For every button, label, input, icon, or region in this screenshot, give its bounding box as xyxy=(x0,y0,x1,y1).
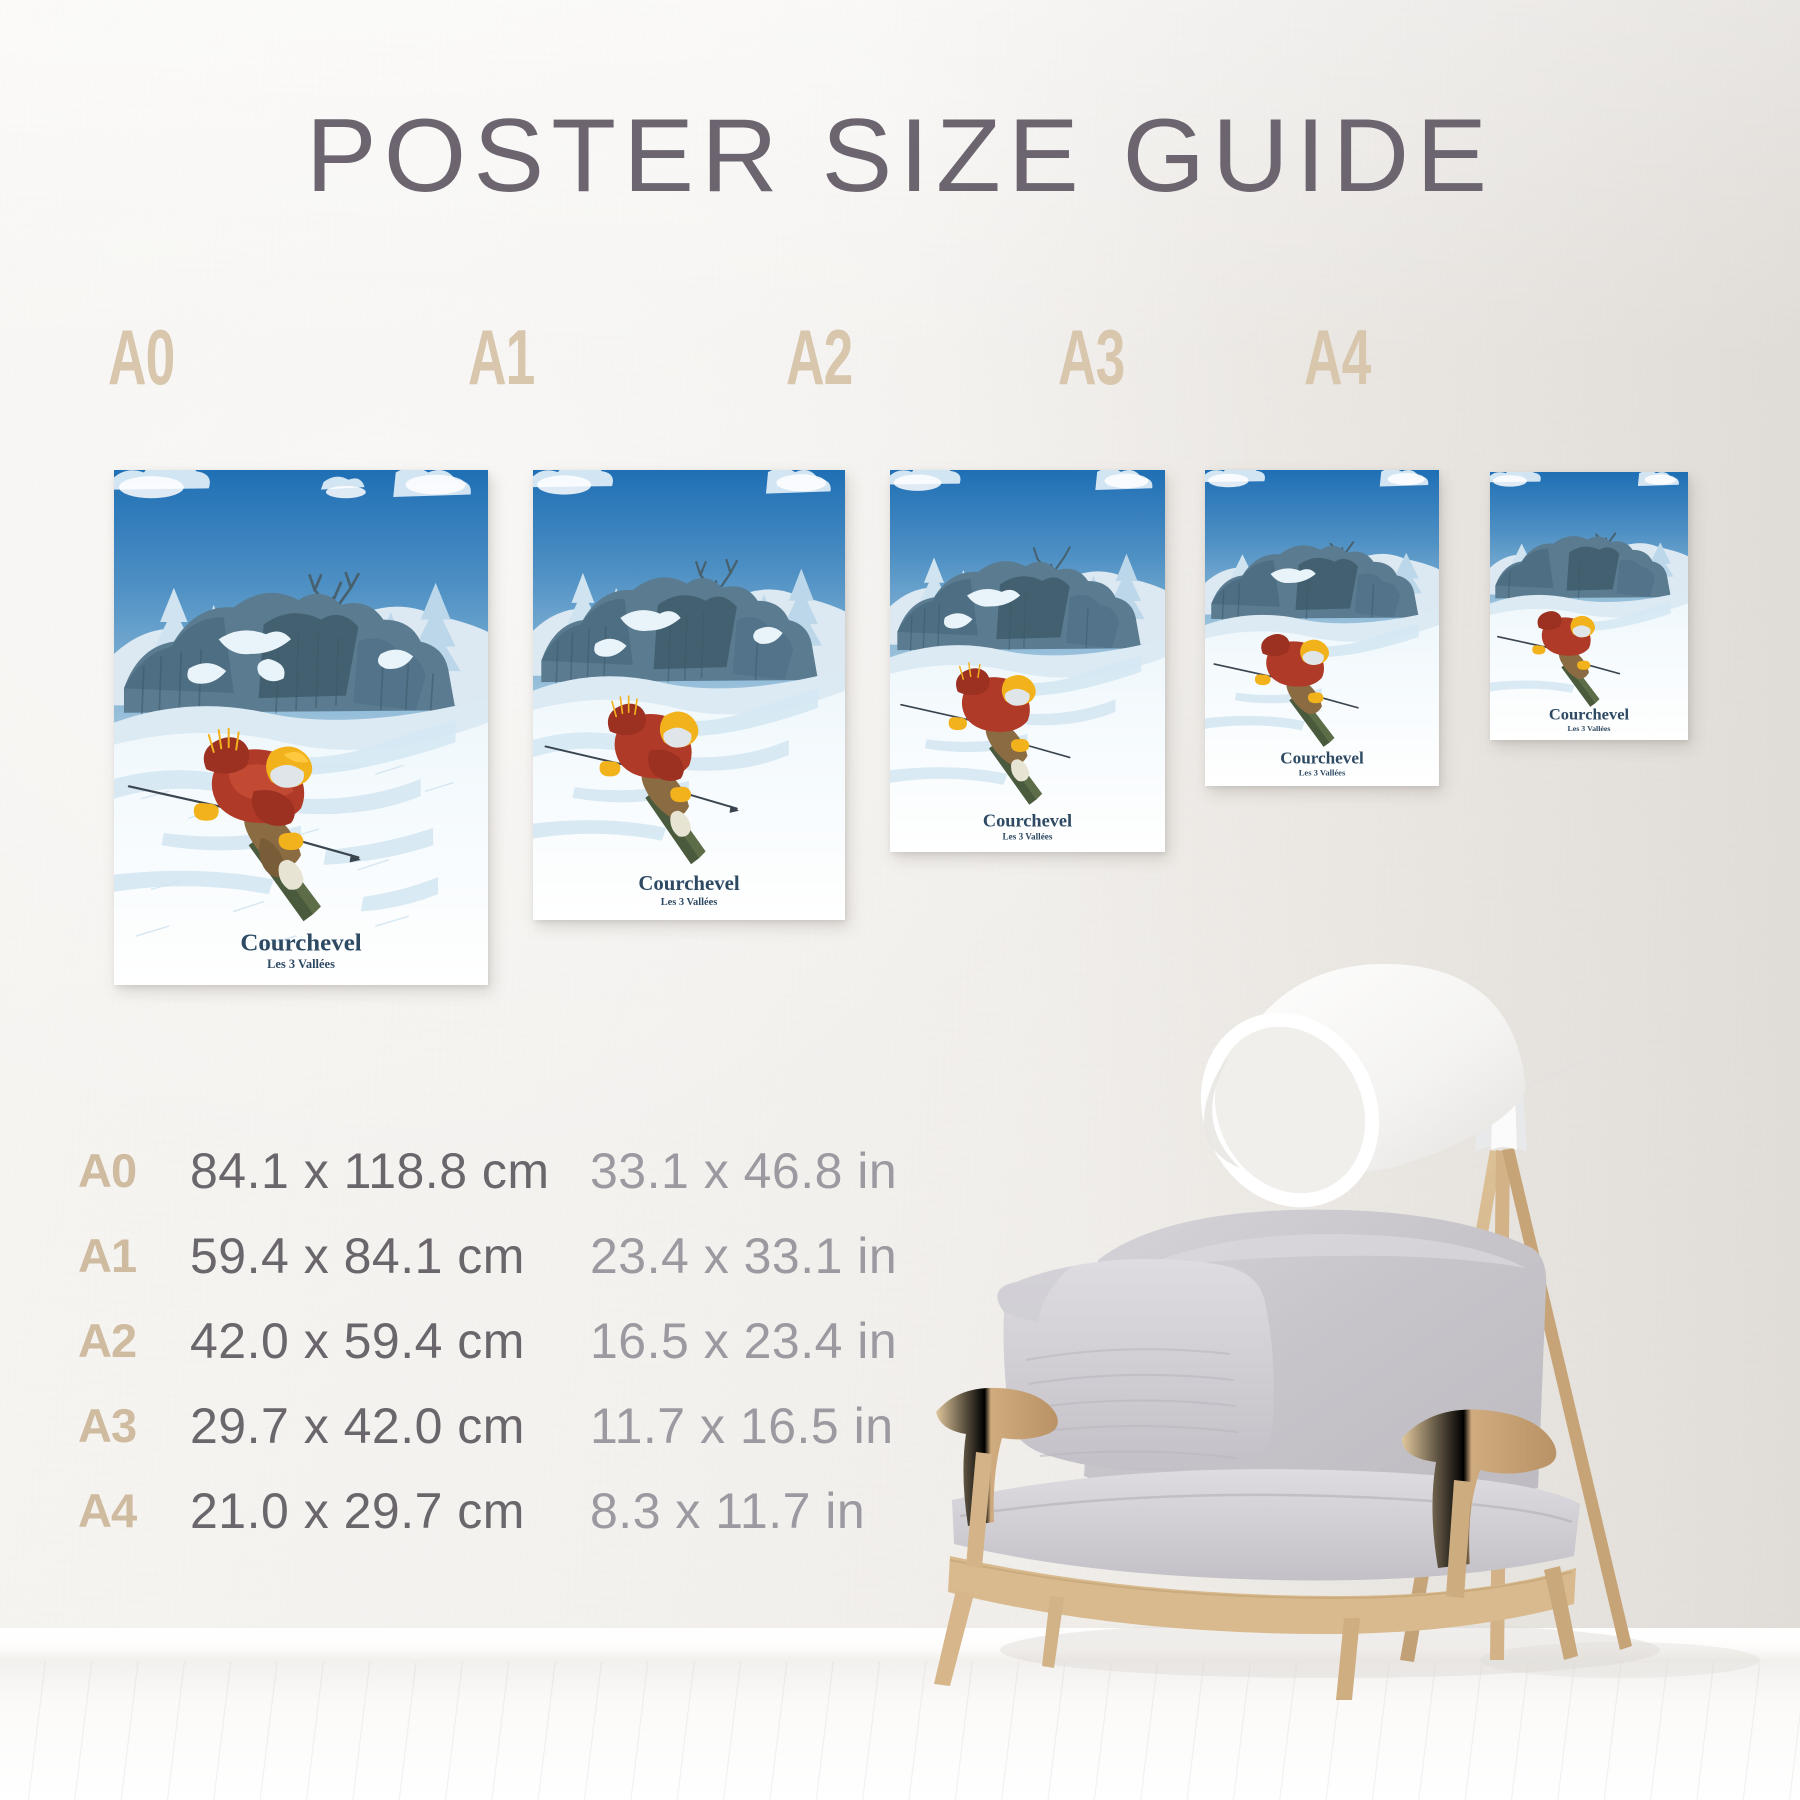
room-scene: POSTER SIZE GUIDE A0 A1 A2 A3 A4 xyxy=(0,0,1800,1800)
table-row: A4 21.0 x 29.7 cm 8.3 x 11.7 in xyxy=(78,1468,978,1553)
poster-caption-subtitle: Les 3 Vallées xyxy=(1003,831,1053,841)
table-row: A3 29.7 x 42.0 cm 11.7 x 16.5 in xyxy=(78,1383,978,1468)
poster-size-label-a1: A1 xyxy=(468,320,534,398)
ski-poster-illustration: Courchevel Les 3 Vallées xyxy=(890,470,1165,852)
poster-size-table: A0 84.1 x 118.8 cm 33.1 x 46.8 in A1 59.… xyxy=(78,1128,978,1553)
poster-caption-title: Courchevel xyxy=(1280,749,1364,768)
furniture-group xyxy=(930,960,1800,1700)
poster-size-label-a0: A0 xyxy=(108,320,174,398)
poster-caption-subtitle: Les 3 Vallées xyxy=(267,957,335,971)
row-in-a4: 8.3 x 11.7 in xyxy=(590,1482,865,1540)
row-code-a1: A1 xyxy=(78,1228,190,1283)
poster-artwork-a2: Courchevel Les 3 Vallées xyxy=(890,470,1165,852)
lamp-cord xyxy=(1522,1046,1624,1090)
row-cm-a2: 42.0 x 59.4 cm xyxy=(190,1312,590,1370)
poster-size-label-a2: A2 xyxy=(786,320,852,398)
chair-seat xyxy=(952,1469,1580,1580)
poster-artwork-a3: Courchevel Les 3 Vallées xyxy=(1205,470,1439,786)
row-in-a3: 11.7 x 16.5 in xyxy=(590,1397,894,1455)
poster-caption-title: Courchevel xyxy=(638,871,739,895)
table-row: A0 84.1 x 118.8 cm 33.1 x 46.8 in xyxy=(78,1128,978,1213)
poster-caption-subtitle: Les 3 Vallées xyxy=(1568,724,1611,733)
row-code-a2: A2 xyxy=(78,1313,190,1368)
row-code-a0: A0 xyxy=(78,1143,190,1198)
poster-caption-title: Courchevel xyxy=(983,811,1072,831)
row-cm-a4: 21.0 x 29.7 cm xyxy=(190,1482,590,1540)
poster-caption-subtitle: Les 3 Vallées xyxy=(1299,768,1346,778)
page-title: POSTER SIZE GUIDE xyxy=(0,104,1800,208)
poster-size-label-a3: A3 xyxy=(1058,320,1124,398)
row-code-a4: A4 xyxy=(78,1483,190,1538)
lamp-shade xyxy=(1168,964,1526,1238)
row-in-a2: 16.5 x 23.4 in xyxy=(590,1312,897,1370)
poster-artwork-a0: Courchevel Les 3 Vallées xyxy=(114,470,488,985)
poster-caption-title: Courchevel xyxy=(240,930,361,957)
poster-caption-subtitle: Les 3 Vallées xyxy=(661,897,718,908)
ski-poster-illustration: Courchevel Les 3 Vallées xyxy=(533,470,845,920)
throw-cushion xyxy=(997,1259,1274,1471)
row-cm-a1: 59.4 x 84.1 cm xyxy=(190,1227,590,1285)
chair-leg-front-left xyxy=(934,1590,974,1686)
ski-poster-illustration: Courchevel Les 3 Vallées xyxy=(1205,470,1439,786)
row-cm-a3: 29.7 x 42.0 cm xyxy=(190,1397,590,1455)
poster-artwork-a4: Courchevel Les 3 Vallées xyxy=(1490,472,1688,740)
row-cm-a0: 84.1 x 118.8 cm xyxy=(190,1142,590,1200)
poster-caption-title: Courchevel xyxy=(1549,706,1630,724)
poster-size-label-a4: A4 xyxy=(1304,320,1370,398)
poster-a1[interactable]: Courchevel Les 3 Vallées xyxy=(533,470,845,920)
row-code-a3: A3 xyxy=(78,1398,190,1453)
table-row: A1 59.4 x 84.1 cm 23.4 x 33.1 in xyxy=(78,1213,978,1298)
poster-artwork-a1: Courchevel Les 3 Vallées xyxy=(533,470,845,920)
poster-a3[interactable]: Courchevel Les 3 Vallées xyxy=(1205,470,1439,786)
poster-a4[interactable]: Courchevel Les 3 Vallées xyxy=(1490,472,1688,740)
row-in-a1: 23.4 x 33.1 in xyxy=(590,1227,897,1285)
table-row: A2 42.0 x 59.4 cm 16.5 x 23.4 in xyxy=(78,1298,978,1383)
ski-poster-illustration: Courchevel Les 3 Vallées xyxy=(1490,472,1688,740)
poster-a0[interactable]: Courchevel Les 3 Vallées xyxy=(114,470,488,985)
ski-poster-illustration: Courchevel Les 3 Vallées xyxy=(114,470,488,985)
row-in-a0: 33.1 x 46.8 in xyxy=(590,1142,897,1200)
poster-a2[interactable]: Courchevel Les 3 Vallées xyxy=(890,470,1165,852)
